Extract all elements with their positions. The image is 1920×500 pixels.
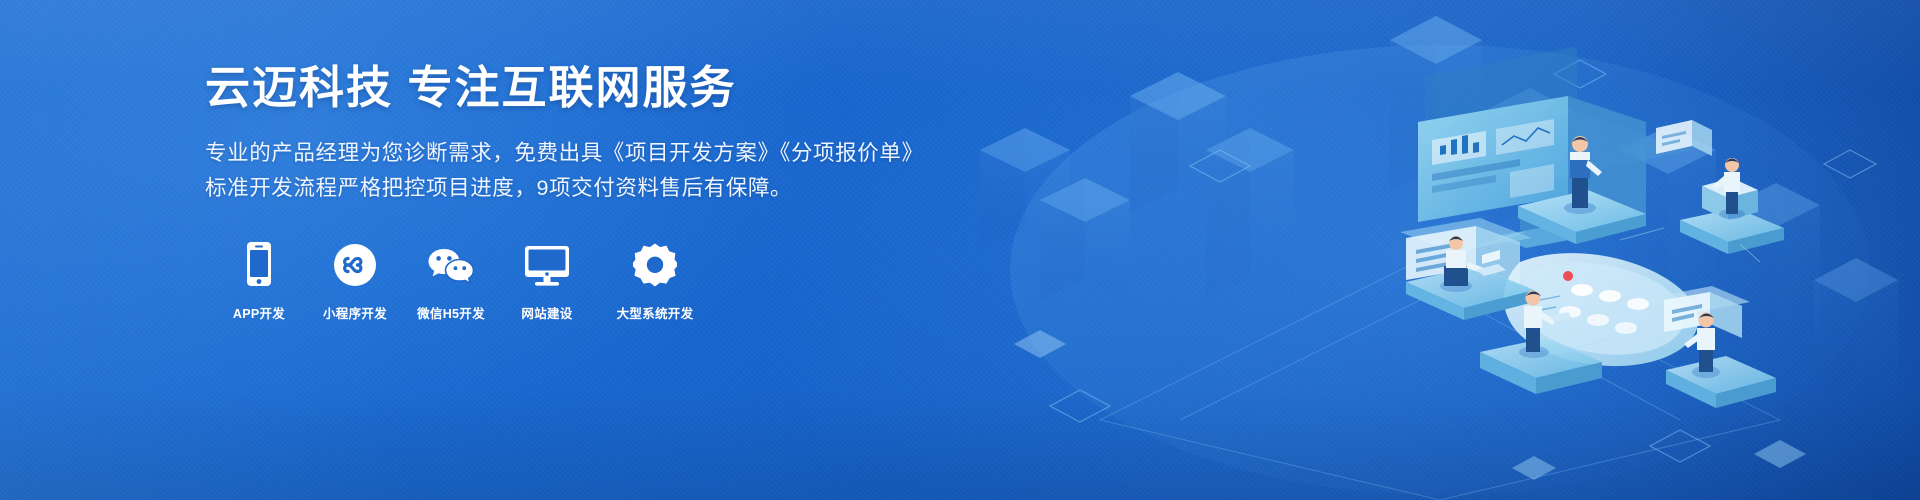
- service-item-app[interactable]: APP开发: [223, 241, 295, 322]
- banner-content: 云迈科技 专注互联网服务 专业的产品经理为您诊断需求，免费出具《项目开发方案》《…: [205, 62, 905, 322]
- subtitle-line-2: 标准开发流程严格把控项目进度，9项交付资料售后有保障。: [205, 171, 905, 206]
- mini-program-icon: [319, 241, 391, 287]
- wechat-icon: [415, 241, 487, 287]
- monitor-icon: [511, 241, 583, 287]
- service-item-wechat[interactable]: 微信H5开发: [415, 241, 487, 322]
- page-title: 云迈科技 专注互联网服务: [205, 62, 905, 114]
- service-item-miniprogram[interactable]: 小程序开发: [319, 241, 391, 322]
- service-label: 网站建设: [511, 303, 583, 322]
- gear-icon: [607, 241, 703, 287]
- service-list: APP开发 小程序开发: [223, 241, 905, 322]
- service-item-website[interactable]: 网站建设: [511, 241, 583, 322]
- service-label: 微信H5开发: [415, 303, 487, 322]
- service-label: APP开发: [223, 303, 295, 322]
- subtitle-line-1: 专业的产品经理为您诊断需求，免费出具《项目开发方案》《分项报价单》: [205, 136, 905, 171]
- service-label: 小程序开发: [319, 303, 391, 322]
- subtitle-block: 专业的产品经理为您诊断需求，免费出具《项目开发方案》《分项报价单》 标准开发流程…: [205, 136, 905, 206]
- mobile-phone-icon: [223, 241, 295, 287]
- service-label: 大型系统开发: [607, 303, 703, 322]
- isometric-technology-illustration: [920, 0, 1920, 500]
- hero-banner: 云迈科技 专注互联网服务 专业的产品经理为您诊断需求，免费出具《项目开发方案》《…: [0, 0, 1920, 500]
- service-item-system[interactable]: 大型系统开发: [607, 241, 703, 322]
